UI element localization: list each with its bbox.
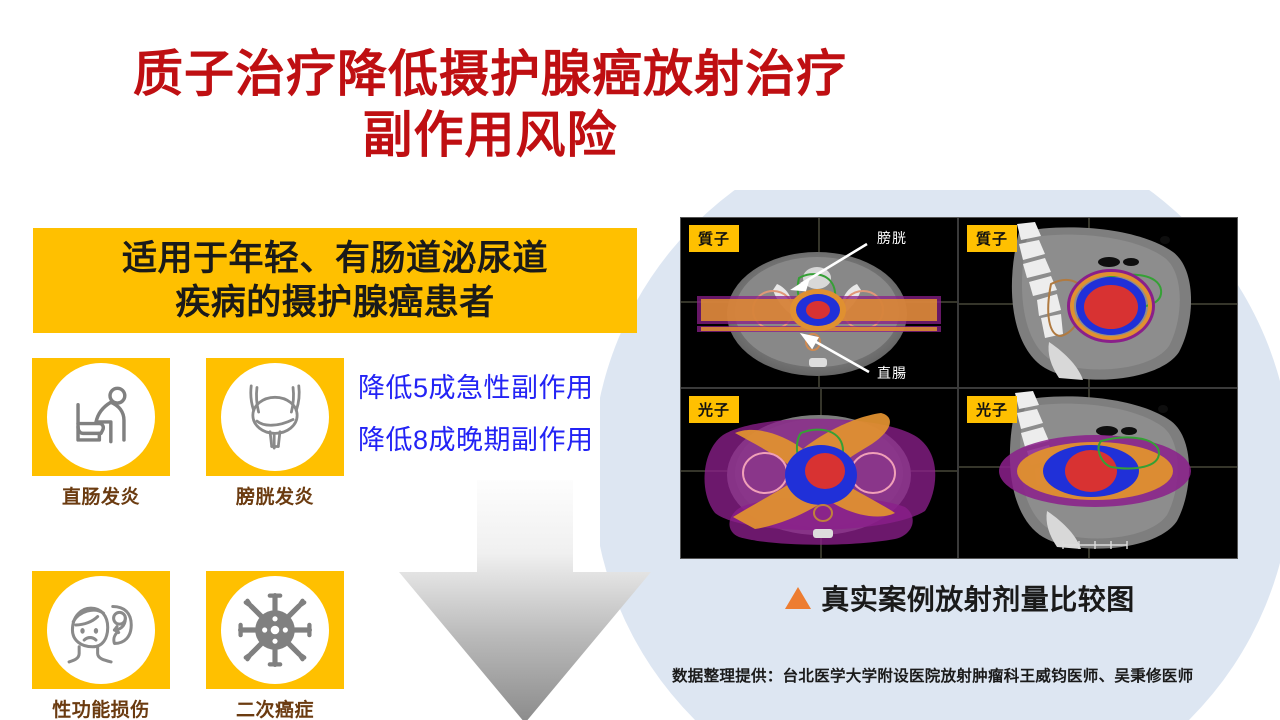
icon-disc bbox=[47, 576, 155, 684]
ct-quadrant-photon-axial[interactable]: 光子 bbox=[681, 389, 957, 558]
virus-cell-icon bbox=[232, 587, 318, 673]
side-effect-label: 性功能损伤 bbox=[32, 695, 170, 720]
icon-disc bbox=[221, 576, 329, 684]
ct-panel-caption: 真实案例放射剂量比较图 bbox=[700, 578, 1220, 618]
side-effect-row-1: 直肠发炎 bbox=[32, 358, 380, 509]
slide-canvas: 质子治疗降低摄护腺癌放射治疗 副作用风险 适用于年轻、有肠道泌尿道 疾病的摄护腺… bbox=[0, 0, 1280, 720]
down-arrow-icon bbox=[399, 480, 651, 720]
modality-tag-photon-sagittal: 光子 bbox=[967, 396, 1017, 423]
side-effect-tile bbox=[32, 358, 170, 476]
modality-tag-proton-sagittal: 質子 bbox=[967, 225, 1017, 252]
side-effect-item-bladder-inflammation[interactable]: 膀胱发炎 bbox=[206, 358, 366, 509]
page-title-line1: 质子治疗降低摄护腺癌放射治疗 bbox=[133, 46, 847, 102]
grid-row-gap bbox=[32, 509, 380, 571]
side-effect-item-secondary-cancer[interactable]: 二次癌症 bbox=[206, 571, 366, 720]
modality-tag-proton-axial: 質子 bbox=[689, 225, 739, 252]
bladder-icon bbox=[234, 376, 316, 458]
modality-tag-photon-axial: 光子 bbox=[689, 396, 739, 423]
icon-disc bbox=[221, 363, 329, 471]
organ-label-rectum: 直腸 bbox=[877, 363, 907, 383]
triangle-up-icon bbox=[785, 587, 811, 609]
page-title: 质子治疗降低摄护腺癌放射治疗 副作用风险 bbox=[0, 44, 980, 166]
indication-banner-line1: 适用于年轻、有肠道泌尿道 bbox=[122, 237, 548, 281]
benefit-line-late: 降低8成晚期副作用 bbox=[358, 427, 594, 454]
ct-divider-horizontal bbox=[681, 387, 1237, 389]
source-attribution: 数据整理提供：台北医学大学附设医院放射肿瘤科王威钧医师、吴秉修医师 bbox=[672, 664, 1193, 686]
benefit-list: 降低5成急性副作用 降低8成晚期副作用 bbox=[358, 375, 594, 479]
side-effect-item-rectal-inflammation[interactable]: 直肠发炎 bbox=[32, 358, 192, 509]
side-effect-item-sexual-dysfunction[interactable]: 性功能损伤 bbox=[32, 571, 192, 720]
ct-caption-text: 真实案例放射剂量比较图 bbox=[821, 578, 1135, 618]
side-effect-tile bbox=[206, 358, 344, 476]
side-effect-row-2: 性功能损伤 bbox=[32, 571, 380, 720]
side-effect-tile bbox=[32, 571, 170, 689]
icon-disc bbox=[47, 363, 155, 471]
person-on-toilet-icon bbox=[60, 376, 142, 458]
ct-quadrant-proton-axial[interactable]: 質子 膀胱 直腸 bbox=[681, 218, 957, 387]
side-effect-icon-grid: 直肠发炎 bbox=[32, 358, 380, 720]
ct-dose-comparison-panel[interactable]: 質子 膀胱 直腸 bbox=[681, 218, 1237, 558]
indication-banner-line2: 疾病的摄护腺癌患者 bbox=[175, 281, 495, 325]
organ-label-bladder: 膀胱 bbox=[877, 228, 907, 248]
benefit-line-acute: 降低5成急性副作用 bbox=[358, 375, 594, 402]
page-title-line2: 副作用风险 bbox=[0, 105, 980, 166]
sad-person-head-icon bbox=[59, 588, 143, 672]
ct-quadrant-photon-sagittal[interactable]: 光子 bbox=[959, 389, 1237, 558]
side-effect-label: 膀胱发炎 bbox=[206, 482, 344, 509]
side-effect-tile bbox=[206, 571, 344, 689]
side-effect-label: 直肠发炎 bbox=[32, 482, 170, 509]
side-effect-label: 二次癌症 bbox=[206, 695, 344, 720]
indication-banner: 适用于年轻、有肠道泌尿道 疾病的摄护腺癌患者 bbox=[33, 228, 637, 333]
ct-quadrant-proton-sagittal[interactable]: 質子 bbox=[959, 218, 1237, 387]
